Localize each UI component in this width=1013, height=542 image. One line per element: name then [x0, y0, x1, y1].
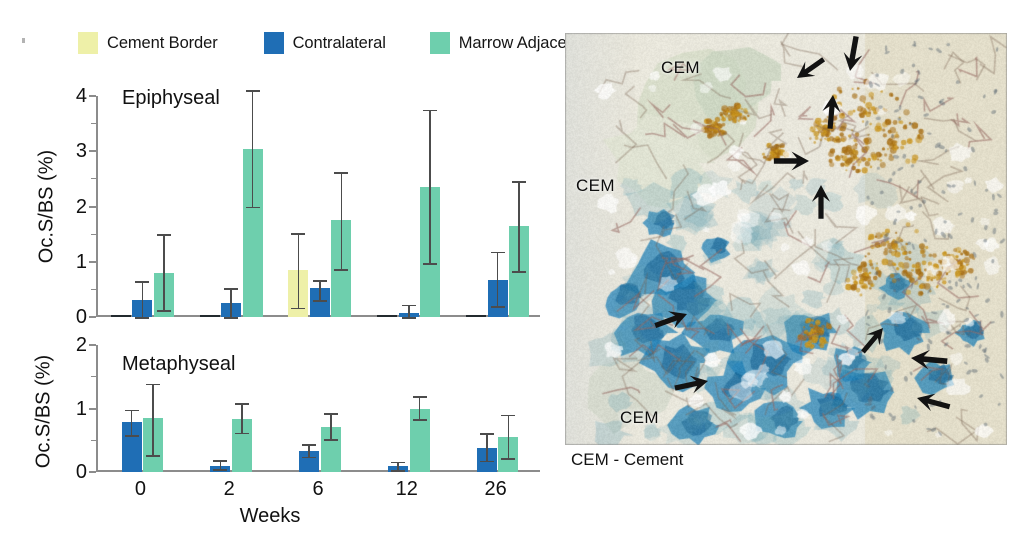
error-bar-cap [291, 233, 305, 235]
y-tick-2 [89, 206, 96, 208]
error-bar-cap [391, 462, 405, 464]
error-bar-cap [135, 317, 149, 319]
error-bar-cap [391, 470, 405, 472]
error-bar-line [497, 252, 499, 306]
legend-item-cement-border: Cement Border [78, 32, 218, 54]
bar-group-week-12 [362, 345, 451, 472]
bar-chart-panel: Cement Border Contralateral Marrow Adjac… [0, 0, 556, 542]
legend-swatch-marrow-adjacent [430, 32, 450, 54]
error-bar-cap [413, 396, 427, 398]
error-bar-cap [402, 305, 416, 307]
bar-cement-border-week-12 [377, 315, 397, 317]
error-bar-cap [313, 280, 327, 282]
error-bar-cap [512, 271, 526, 273]
y-tick-1 [89, 261, 96, 263]
error-bar-cap [480, 461, 494, 463]
error-bar-line [131, 410, 133, 435]
bar-group-week-0 [96, 345, 185, 472]
error-bar-cap [501, 458, 515, 460]
error-bar-cap [324, 413, 338, 415]
error-bar-line [341, 172, 343, 269]
bar-group-week-26 [451, 345, 540, 472]
legend-item-marrow-adjacent: Marrow Adjacent [430, 32, 580, 54]
y-tick-1 [89, 408, 96, 410]
error-bar-cap [491, 252, 505, 254]
error-bar-cap [324, 439, 338, 441]
y-tick-minor [91, 376, 96, 377]
legend-label-contralateral: Contralateral [293, 34, 386, 53]
y-tick-label-0: 0 [76, 307, 87, 327]
error-bar-cap [213, 460, 227, 462]
micrograph-canvas [565, 33, 1007, 445]
error-bar-line [408, 305, 410, 317]
error-bar-line [308, 444, 310, 457]
bar-group-week-12 [362, 96, 451, 317]
legend-label-marrow-adjacent: Marrow Adjacent [459, 34, 580, 53]
error-bar-line [241, 403, 243, 432]
x-tick-label-6: 6 [312, 478, 323, 501]
y-tick-0 [89, 471, 96, 473]
error-bar-cap [423, 263, 437, 265]
error-bar-cap [235, 433, 249, 435]
error-bar-line [429, 110, 431, 264]
error-bar-cap [512, 181, 526, 183]
x-tick-label-12: 12 [396, 478, 418, 501]
bar-cement-border-week-0 [111, 315, 131, 317]
error-bar-line [163, 234, 165, 310]
error-bar-line [298, 233, 300, 308]
error-bar-cap [157, 310, 171, 312]
error-bar-cap [246, 207, 260, 209]
error-bar-line [252, 90, 254, 206]
y-tick-label-3: 3 [76, 141, 87, 161]
error-bar-cap [501, 415, 515, 417]
y-tick-label-2: 2 [76, 197, 87, 217]
y-tick-3 [89, 150, 96, 152]
error-bar-cap [125, 435, 139, 437]
error-bar-cap [402, 317, 416, 319]
error-bar-line [330, 413, 332, 439]
error-bar-cap [302, 444, 316, 446]
y-tick-label-2: 2 [76, 335, 87, 355]
error-bar-cap [480, 433, 494, 435]
error-bar-cap [413, 419, 427, 421]
bar-group-week-6 [274, 345, 363, 472]
y-tick-label-1: 1 [76, 252, 87, 272]
y-tick-minor [91, 289, 96, 290]
error-bar-cap [157, 234, 171, 236]
y-axis-title-epiphyseal: Oc.S/BS (%) [36, 127, 59, 287]
legend-swatch-contralateral [264, 32, 284, 54]
y-tick-label-0: 0 [76, 462, 87, 482]
y-tick-4 [89, 95, 96, 97]
bar-series-metaphyseal [96, 345, 540, 472]
error-bar-line [486, 433, 488, 460]
y-axis-title-metaphyseal: Oc.S/BS (%) [33, 332, 56, 492]
y-tick-minor [91, 234, 96, 235]
error-bar-cap [291, 308, 305, 310]
y-tick-0 [89, 316, 96, 318]
bar-group-week-26 [451, 96, 540, 317]
x-tick-label-2: 2 [224, 478, 235, 501]
plot-epiphyseal: Epiphyseal 01234 [96, 96, 540, 317]
error-bar-line [419, 396, 421, 419]
y-tick-minor [91, 178, 96, 179]
error-bar-cap [213, 469, 227, 471]
bar-group-week-0 [96, 96, 185, 317]
plot-metaphyseal: Metaphyseal 012 [96, 345, 540, 472]
error-bar-cap [135, 281, 149, 283]
y-tick-label-1: 1 [76, 399, 87, 419]
error-bar-line [142, 281, 144, 317]
x-tick-label-26: 26 [484, 478, 506, 501]
legend-item-contralateral: Contralateral [264, 32, 386, 54]
error-bar-cap [224, 288, 238, 290]
error-bar-cap [423, 110, 437, 112]
figure-root: Cement Border Contralateral Marrow Adjac… [0, 0, 1013, 542]
error-bar-cap [491, 306, 505, 308]
error-bar-cap [302, 457, 316, 459]
error-bar-cap [146, 384, 160, 386]
x-axis-title: Weeks [40, 505, 500, 528]
bar-series-epiphyseal [96, 96, 540, 317]
bar-group-week-2 [185, 96, 274, 317]
bar-group-week-2 [185, 345, 274, 472]
y-tick-minor [91, 440, 96, 441]
error-bar-cap [146, 455, 160, 457]
bar-cement-border-week-26 [466, 315, 486, 317]
error-bar-cap [235, 403, 249, 405]
bar-cement-border-week-2 [200, 315, 220, 317]
error-bar-line [508, 415, 510, 458]
micrograph-caption: CEM - Cement [571, 450, 683, 470]
legend-swatch-cement-border [78, 32, 98, 54]
error-bar-cap [334, 172, 348, 174]
error-bar-cap [246, 90, 260, 92]
y-tick-2 [89, 344, 96, 346]
error-bar-line [152, 384, 154, 456]
error-bar-line [230, 288, 232, 317]
error-bar-line [319, 280, 321, 300]
y-tick-minor [91, 123, 96, 124]
micrograph-image: CEM CEM CEM [565, 33, 1007, 445]
x-tick-label-0: 0 [135, 478, 146, 501]
histology-micrograph: CEM CEM CEM [565, 33, 1007, 445]
bar-group-week-6 [274, 96, 363, 317]
error-bar-cap [313, 300, 327, 302]
error-bar-line [518, 181, 520, 271]
chart-legend: Cement Border Contralateral Marrow Adjac… [78, 30, 538, 56]
legend-label-cement-border: Cement Border [107, 34, 218, 53]
error-bar-cap [224, 317, 238, 319]
error-bar-cap [334, 269, 348, 271]
y-tick-label-4: 4 [76, 86, 87, 106]
error-bar-cap [125, 410, 139, 412]
